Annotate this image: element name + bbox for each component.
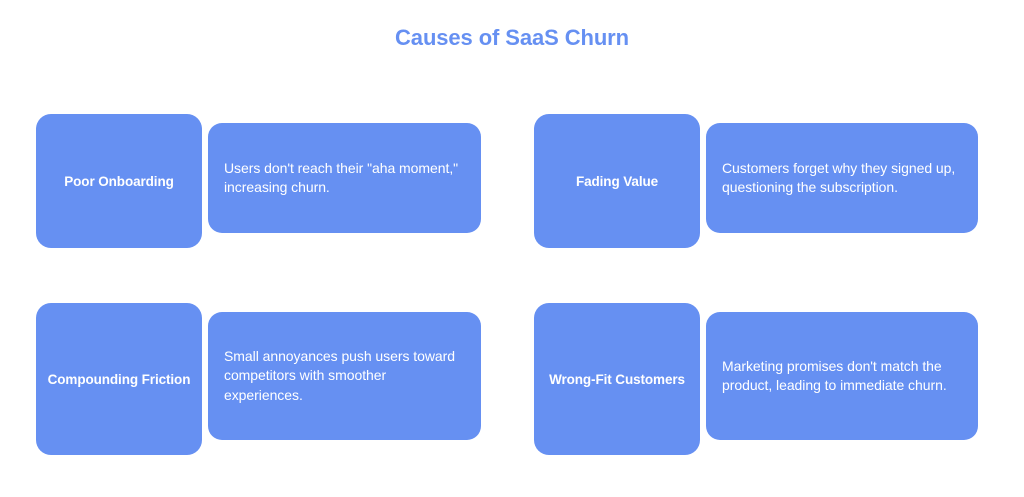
card-label-text: Wrong-Fit Customers: [549, 370, 685, 389]
card-description-panel[interactable]: Marketing promises don't match the produ…: [706, 312, 978, 440]
card-description-text: Customers forget why they signed up, que…: [722, 159, 964, 198]
card-poor-onboarding[interactable]: Poor Onboarding Users don't reach their …: [36, 114, 481, 248]
infographic-canvas: Causes of SaaS Churn Poor Onboarding Use…: [0, 0, 1024, 497]
card-label-text: Poor Onboarding: [64, 172, 174, 191]
card-label-panel[interactable]: Compounding Friction: [36, 303, 202, 455]
card-wrong-fit-customers[interactable]: Wrong-Fit Customers Marketing promises d…: [534, 303, 978, 455]
card-fading-value[interactable]: Fading Value Customers forget why they s…: [534, 114, 978, 248]
card-label-panel[interactable]: Fading Value: [534, 114, 700, 248]
card-description-panel[interactable]: Users don't reach their "aha moment," in…: [208, 123, 481, 233]
card-compounding-friction[interactable]: Compounding Friction Small annoyances pu…: [36, 303, 481, 455]
card-description-panel[interactable]: Customers forget why they signed up, que…: [706, 123, 978, 233]
card-description-text: Small annoyances push users toward compe…: [224, 347, 467, 406]
card-description-text: Marketing promises don't match the produ…: [722, 357, 964, 396]
card-description-panel[interactable]: Small annoyances push users toward compe…: [208, 312, 481, 440]
card-label-text: Compounding Friction: [48, 370, 191, 389]
card-label-panel[interactable]: Wrong-Fit Customers: [534, 303, 700, 455]
page-title: Causes of SaaS Churn: [0, 24, 1024, 52]
card-description-text: Users don't reach their "aha moment," in…: [224, 159, 467, 198]
card-label-panel[interactable]: Poor Onboarding: [36, 114, 202, 248]
card-label-text: Fading Value: [576, 172, 658, 191]
